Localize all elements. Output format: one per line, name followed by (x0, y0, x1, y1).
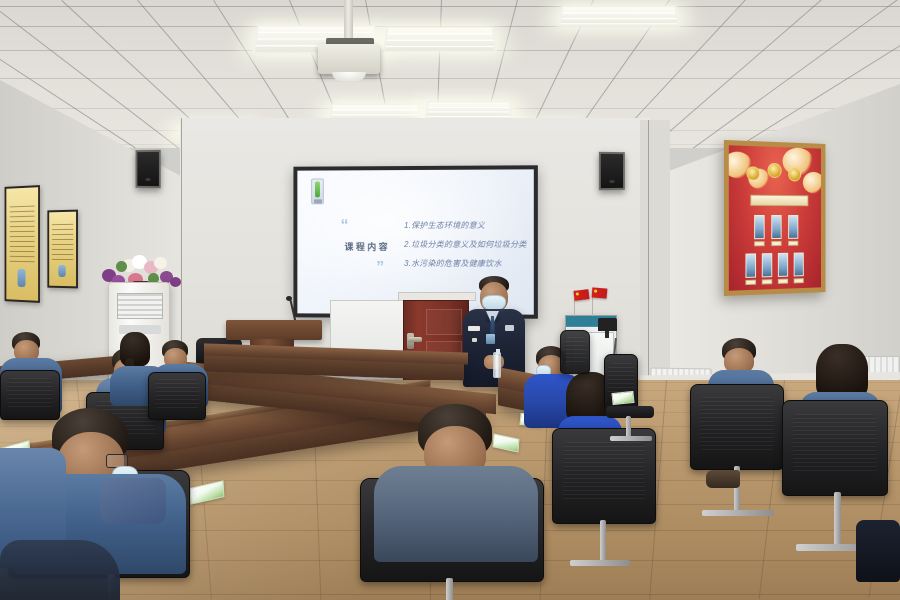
wall-speaker-right (599, 152, 625, 190)
green-bar-icon (311, 178, 324, 204)
honor-board-content (729, 145, 821, 290)
face-mask (482, 295, 506, 311)
ceiling-light-fixture (383, 27, 497, 52)
slide-heading: 课程内容 (337, 240, 398, 253)
ceiling-light-fixture (425, 101, 513, 119)
slide-bullet-1: 1.保护生态环境的意义 (404, 222, 533, 230)
shoe (706, 470, 740, 488)
jacket-shoulder (100, 478, 166, 524)
lectern-top (226, 320, 322, 340)
ceiling-light-fixture (558, 6, 680, 27)
chinese-flag (592, 287, 608, 298)
quote-open-icon: “ (341, 220, 350, 233)
slide-bullet-3: 3.水污染的危害及健康饮水 (404, 260, 533, 268)
uniform-button (472, 338, 477, 342)
shoulder-insignia (505, 325, 514, 331)
uniform-name-tag (468, 326, 480, 331)
audience-chair (690, 384, 796, 534)
honor-board-title-plate (750, 195, 808, 207)
audience-member-foreground (374, 404, 542, 554)
slide-bullet-2: 2.垃圾分类的意义及如何垃圾分类 (404, 241, 533, 249)
ceiling-projector (318, 44, 380, 74)
certificate-artwork (49, 212, 76, 287)
framed-certificate (5, 185, 40, 303)
door-handle[interactable] (408, 337, 422, 342)
quote-close-icon: ” (376, 262, 385, 275)
foreground-person-blur (0, 540, 120, 600)
empty-chair (560, 330, 618, 400)
audience-chair (552, 428, 664, 556)
certificate-artwork (6, 187, 38, 301)
framed-certificate (47, 210, 78, 289)
chinese-flag (573, 289, 589, 301)
id-badge (486, 334, 495, 344)
red-honor-board (724, 140, 826, 296)
classroom-lecture-photo: “ ” 课程内容 1.保护生态环境的意义 2.垃圾分类的意义及如何垃圾分类 3.… (0, 0, 900, 600)
wall-corner-right (648, 120, 649, 378)
ac-vent-grille (117, 293, 163, 319)
slide-bullet-list: 1.保护生态环境的意义 2.垃圾分类的意义及如何垃圾分类 3.水污染的危害及健康… (404, 222, 533, 280)
seated-person-legs (856, 520, 900, 582)
wall-speaker-left (136, 150, 161, 188)
water-bottle (493, 352, 501, 378)
